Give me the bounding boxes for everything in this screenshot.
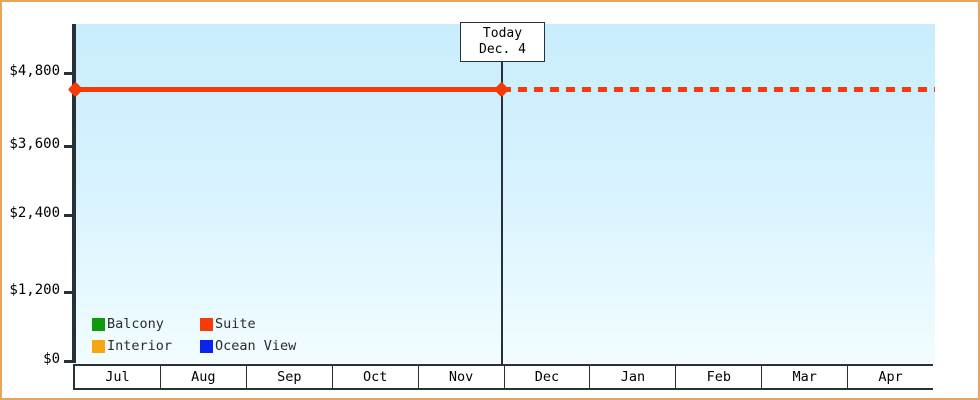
today-callout-line1: Today: [483, 26, 522, 42]
legend-item-suite[interactable]: Suite: [200, 313, 296, 335]
today-vertical-line: [501, 24, 503, 364]
y-axis-tick-label: $3,600: [9, 136, 60, 152]
y-axis-tick-label: $4,800: [9, 63, 60, 79]
x-axis-month-oct[interactable]: Oct: [333, 366, 419, 388]
x-axis-month-dec[interactable]: Dec: [505, 366, 591, 388]
x-axis-month-aug[interactable]: Aug: [161, 366, 247, 388]
legend-swatch-icon: [92, 318, 105, 331]
chart-legend: BalconySuiteInteriorOcean View: [92, 313, 296, 357]
y-axis-tick-label: $2,400: [9, 205, 60, 221]
legend-item-balcony[interactable]: Balcony: [92, 313, 200, 335]
series-line-suite-forecast: [502, 87, 935, 92]
y-axis-tick-mark: [64, 360, 73, 363]
today-callout: Today Dec. 4: [460, 22, 545, 62]
legend-item-label: Ocean View: [215, 338, 296, 354]
legend-item-label: Suite: [215, 316, 256, 332]
legend-item-label: Balcony: [107, 316, 164, 332]
x-axis-month-mar[interactable]: Mar: [762, 366, 848, 388]
legend-swatch-icon: [200, 318, 213, 331]
y-axis-tick-label: $0: [43, 351, 60, 367]
today-callout-line2: Dec. 4: [479, 42, 526, 58]
legend-swatch-icon: [200, 340, 213, 353]
x-axis-month-apr[interactable]: Apr: [848, 366, 933, 388]
legend-swatch-icon: [92, 340, 105, 353]
legend-item-interior[interactable]: Interior: [92, 335, 200, 357]
x-axis-month-nov[interactable]: Nov: [419, 366, 505, 388]
legend-item-label: Interior: [107, 338, 172, 354]
x-axis-month-feb[interactable]: Feb: [676, 366, 762, 388]
y-axis-tick-mark: [64, 214, 73, 217]
y-axis-tick-mark: [64, 145, 73, 148]
x-axis-month-bar: JulAugSepOctNovDecJanFebMarApr: [75, 364, 933, 390]
y-axis-tick-mark: [64, 291, 73, 294]
y-axis-labels: $4,800$3,600$2,400$1,200$0: [2, 2, 60, 400]
x-axis-month-sep[interactable]: Sep: [247, 366, 333, 388]
legend-item-ocean-view[interactable]: Ocean View: [200, 335, 296, 357]
x-axis-month-jul[interactable]: Jul: [75, 366, 161, 388]
series-line-suite-actual: [75, 87, 502, 92]
price-history-chart: $4,800$3,600$2,400$1,200$0 Today Dec. 4 …: [0, 0, 980, 400]
y-axis-tick-mark: [64, 72, 73, 75]
y-axis-tick-label: $1,200: [9, 282, 60, 298]
x-axis-month-jan[interactable]: Jan: [590, 366, 676, 388]
